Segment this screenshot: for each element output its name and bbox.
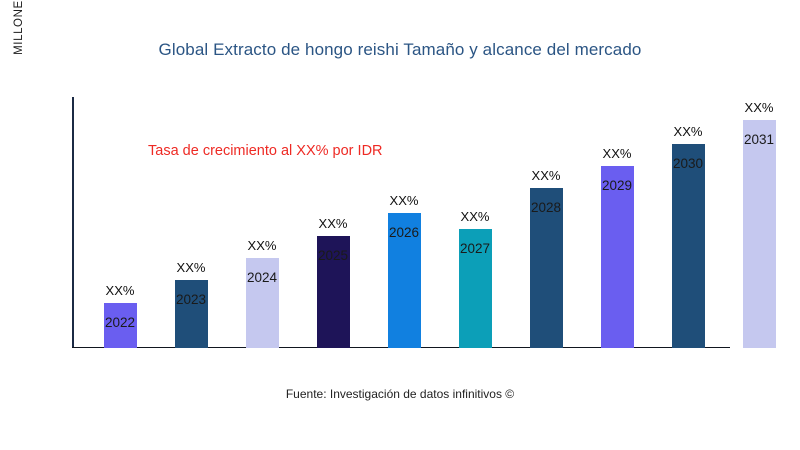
bar-value-label-2022: XX% xyxy=(106,283,135,298)
bar-2030[interactable] xyxy=(672,144,705,348)
bar-2031[interactable] xyxy=(743,120,776,348)
x-tick-label-2024: 2024 xyxy=(247,270,277,285)
y-axis-label: MILLONES DE USD xyxy=(13,0,25,123)
x-tick-label-2030: 2030 xyxy=(673,156,703,171)
chart-title: Global Extracto de hongo reishi Tamaño y… xyxy=(0,40,800,60)
bar-value-label-2027: XX% xyxy=(461,209,490,224)
bar-group-2026[interactable]: XX%2026 xyxy=(388,213,421,348)
growth-rate-annotation: Tasa de crecimiento al XX% por IDR xyxy=(148,143,383,159)
bar-group-2023[interactable]: XX%2023 xyxy=(175,280,208,348)
bar-value-label-2031: XX% xyxy=(745,100,774,115)
bar-group-2029[interactable]: XX%2029 xyxy=(601,166,634,348)
source-note: Fuente: Investigación de datos infinitiv… xyxy=(0,387,800,401)
bar-2029[interactable] xyxy=(601,166,634,348)
bar-group-2022[interactable]: XX%2022 xyxy=(104,303,137,348)
bar-2023[interactable] xyxy=(175,280,208,348)
bar-value-label-2028: XX% xyxy=(532,168,561,183)
bar-value-label-2024: XX% xyxy=(248,238,277,253)
bar-group-2031[interactable]: XX%2031 xyxy=(743,120,776,348)
bar-group-2024[interactable]: XX%2024 xyxy=(246,258,279,348)
bar-chart: Global Extracto de hongo reishi Tamaño y… xyxy=(0,0,800,450)
bar-group-2027[interactable]: XX%2027 xyxy=(459,229,492,348)
bar-group-2028[interactable]: XX%2028 xyxy=(530,188,563,348)
bar-group-2025[interactable]: XX%2025 xyxy=(317,236,350,348)
bar-value-label-2026: XX% xyxy=(390,193,419,208)
x-tick-label-2031: 2031 xyxy=(744,132,774,147)
x-tick-label-2028: 2028 xyxy=(531,200,561,215)
x-tick-label-2029: 2029 xyxy=(602,178,632,193)
x-tick-label-2025: 2025 xyxy=(318,248,348,263)
bar-group-2030[interactable]: XX%2030 xyxy=(672,144,705,348)
x-tick-label-2027: 2027 xyxy=(460,241,490,256)
x-tick-label-2026: 2026 xyxy=(389,225,419,240)
bar-value-label-2023: XX% xyxy=(177,260,206,275)
x-tick-label-2023: 2023 xyxy=(176,292,206,307)
x-tick-label-2022: 2022 xyxy=(105,315,135,330)
y-axis-spine xyxy=(72,97,74,348)
bar-value-label-2030: XX% xyxy=(674,124,703,139)
bar-value-label-2025: XX% xyxy=(319,216,348,231)
bar-value-label-2029: XX% xyxy=(603,146,632,161)
